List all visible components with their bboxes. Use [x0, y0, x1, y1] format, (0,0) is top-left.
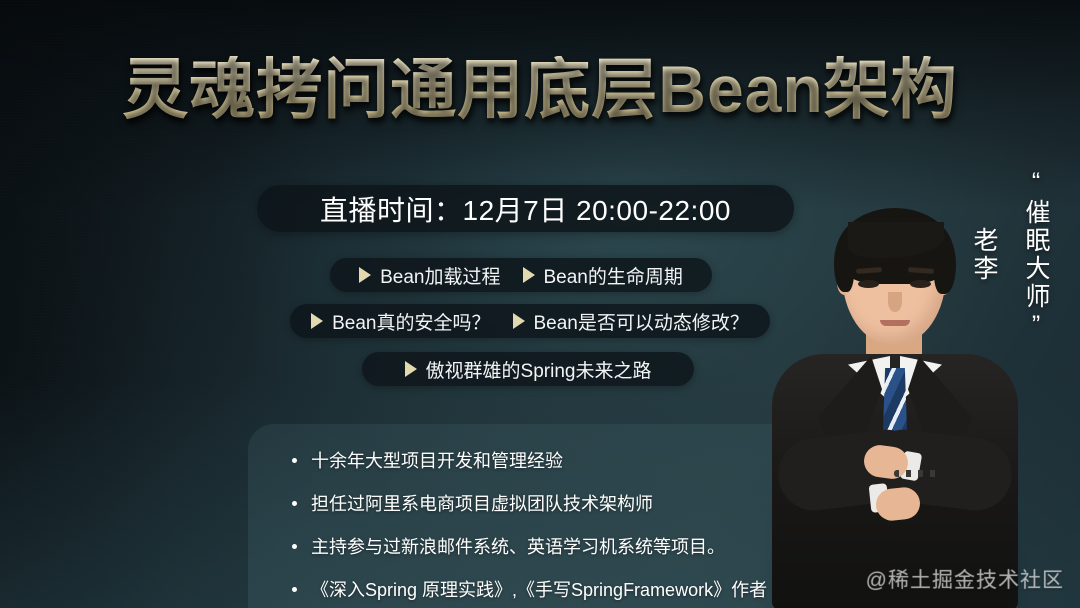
speaker-nose: [888, 292, 902, 312]
topic-label: Bean是否可以动态修改？: [534, 308, 749, 335]
bullet-dot-icon: [292, 458, 297, 463]
speaker-eye-right: [910, 280, 931, 288]
schedule-pill: 直播时间：12月7日 20:00-22:00: [257, 185, 794, 232]
bullet-dot-icon: [292, 587, 297, 592]
triangle-right-icon: [523, 267, 535, 283]
triangle-right-icon: [359, 267, 371, 283]
watermark: @稀土掘金技术社区: [866, 564, 1064, 594]
topic-item[interactable]: Bean加载过程: [359, 262, 500, 289]
speaker-sleeve-buttons: [894, 470, 938, 477]
topic-label: Bean加载过程: [380, 262, 500, 289]
topic-row-3: 傲视群雄的Spring未来之路: [362, 352, 694, 386]
credential-text: 《深入Spring 原理实践》,《手写SpringFramework》作者: [311, 581, 767, 599]
topic-item[interactable]: Bean是否可以动态修改？: [513, 308, 749, 335]
topic-item[interactable]: Bean的生命周期: [523, 262, 683, 289]
speaker-eye-left: [858, 280, 879, 288]
credential-text: 主持参与过新浪邮件系统、英语学习机系统等项目。: [311, 538, 725, 556]
speaker-mouth: [880, 320, 910, 326]
topic-item[interactable]: 傲视群雄的Spring未来之路: [405, 356, 652, 383]
speaker-nickname: “催眠大师”: [1018, 168, 1054, 342]
topic-label: 傲视群雄的Spring未来之路: [426, 356, 652, 383]
triangle-right-icon: [311, 313, 323, 329]
triangle-right-icon: [405, 361, 417, 377]
topic-label: Bean的生命周期: [544, 262, 683, 289]
speaker-name: 老李: [966, 227, 1002, 283]
topic-label: Bean真的安全吗？: [332, 308, 490, 335]
schedule-text: 直播时间：12月7日 20:00-22:00: [320, 189, 731, 229]
credential-text: 担任过阿里系电商项目虚拟团队技术架构师: [311, 495, 653, 513]
triangle-right-icon: [513, 313, 525, 329]
topic-item[interactable]: Bean真的安全吗？: [311, 308, 490, 335]
topic-row-1: Bean加载过程 Bean的生命周期: [330, 258, 712, 292]
credential-text: 十余年大型项目开发和管理经验: [311, 452, 563, 470]
bullet-dot-icon: [292, 501, 297, 506]
topic-row-2: Bean真的安全吗？ Bean是否可以动态修改？: [290, 304, 770, 338]
bullet-dot-icon: [292, 544, 297, 549]
page-title: 灵魂拷问通用底层Bean架构: [0, 56, 1080, 122]
speaker-name-vertical: “催眠大师” 老李: [966, 168, 1054, 342]
live-session-poster: 灵魂拷问通用底层Bean架构 直播时间：12月7日 20:00-22:00 Be…: [0, 0, 1080, 608]
